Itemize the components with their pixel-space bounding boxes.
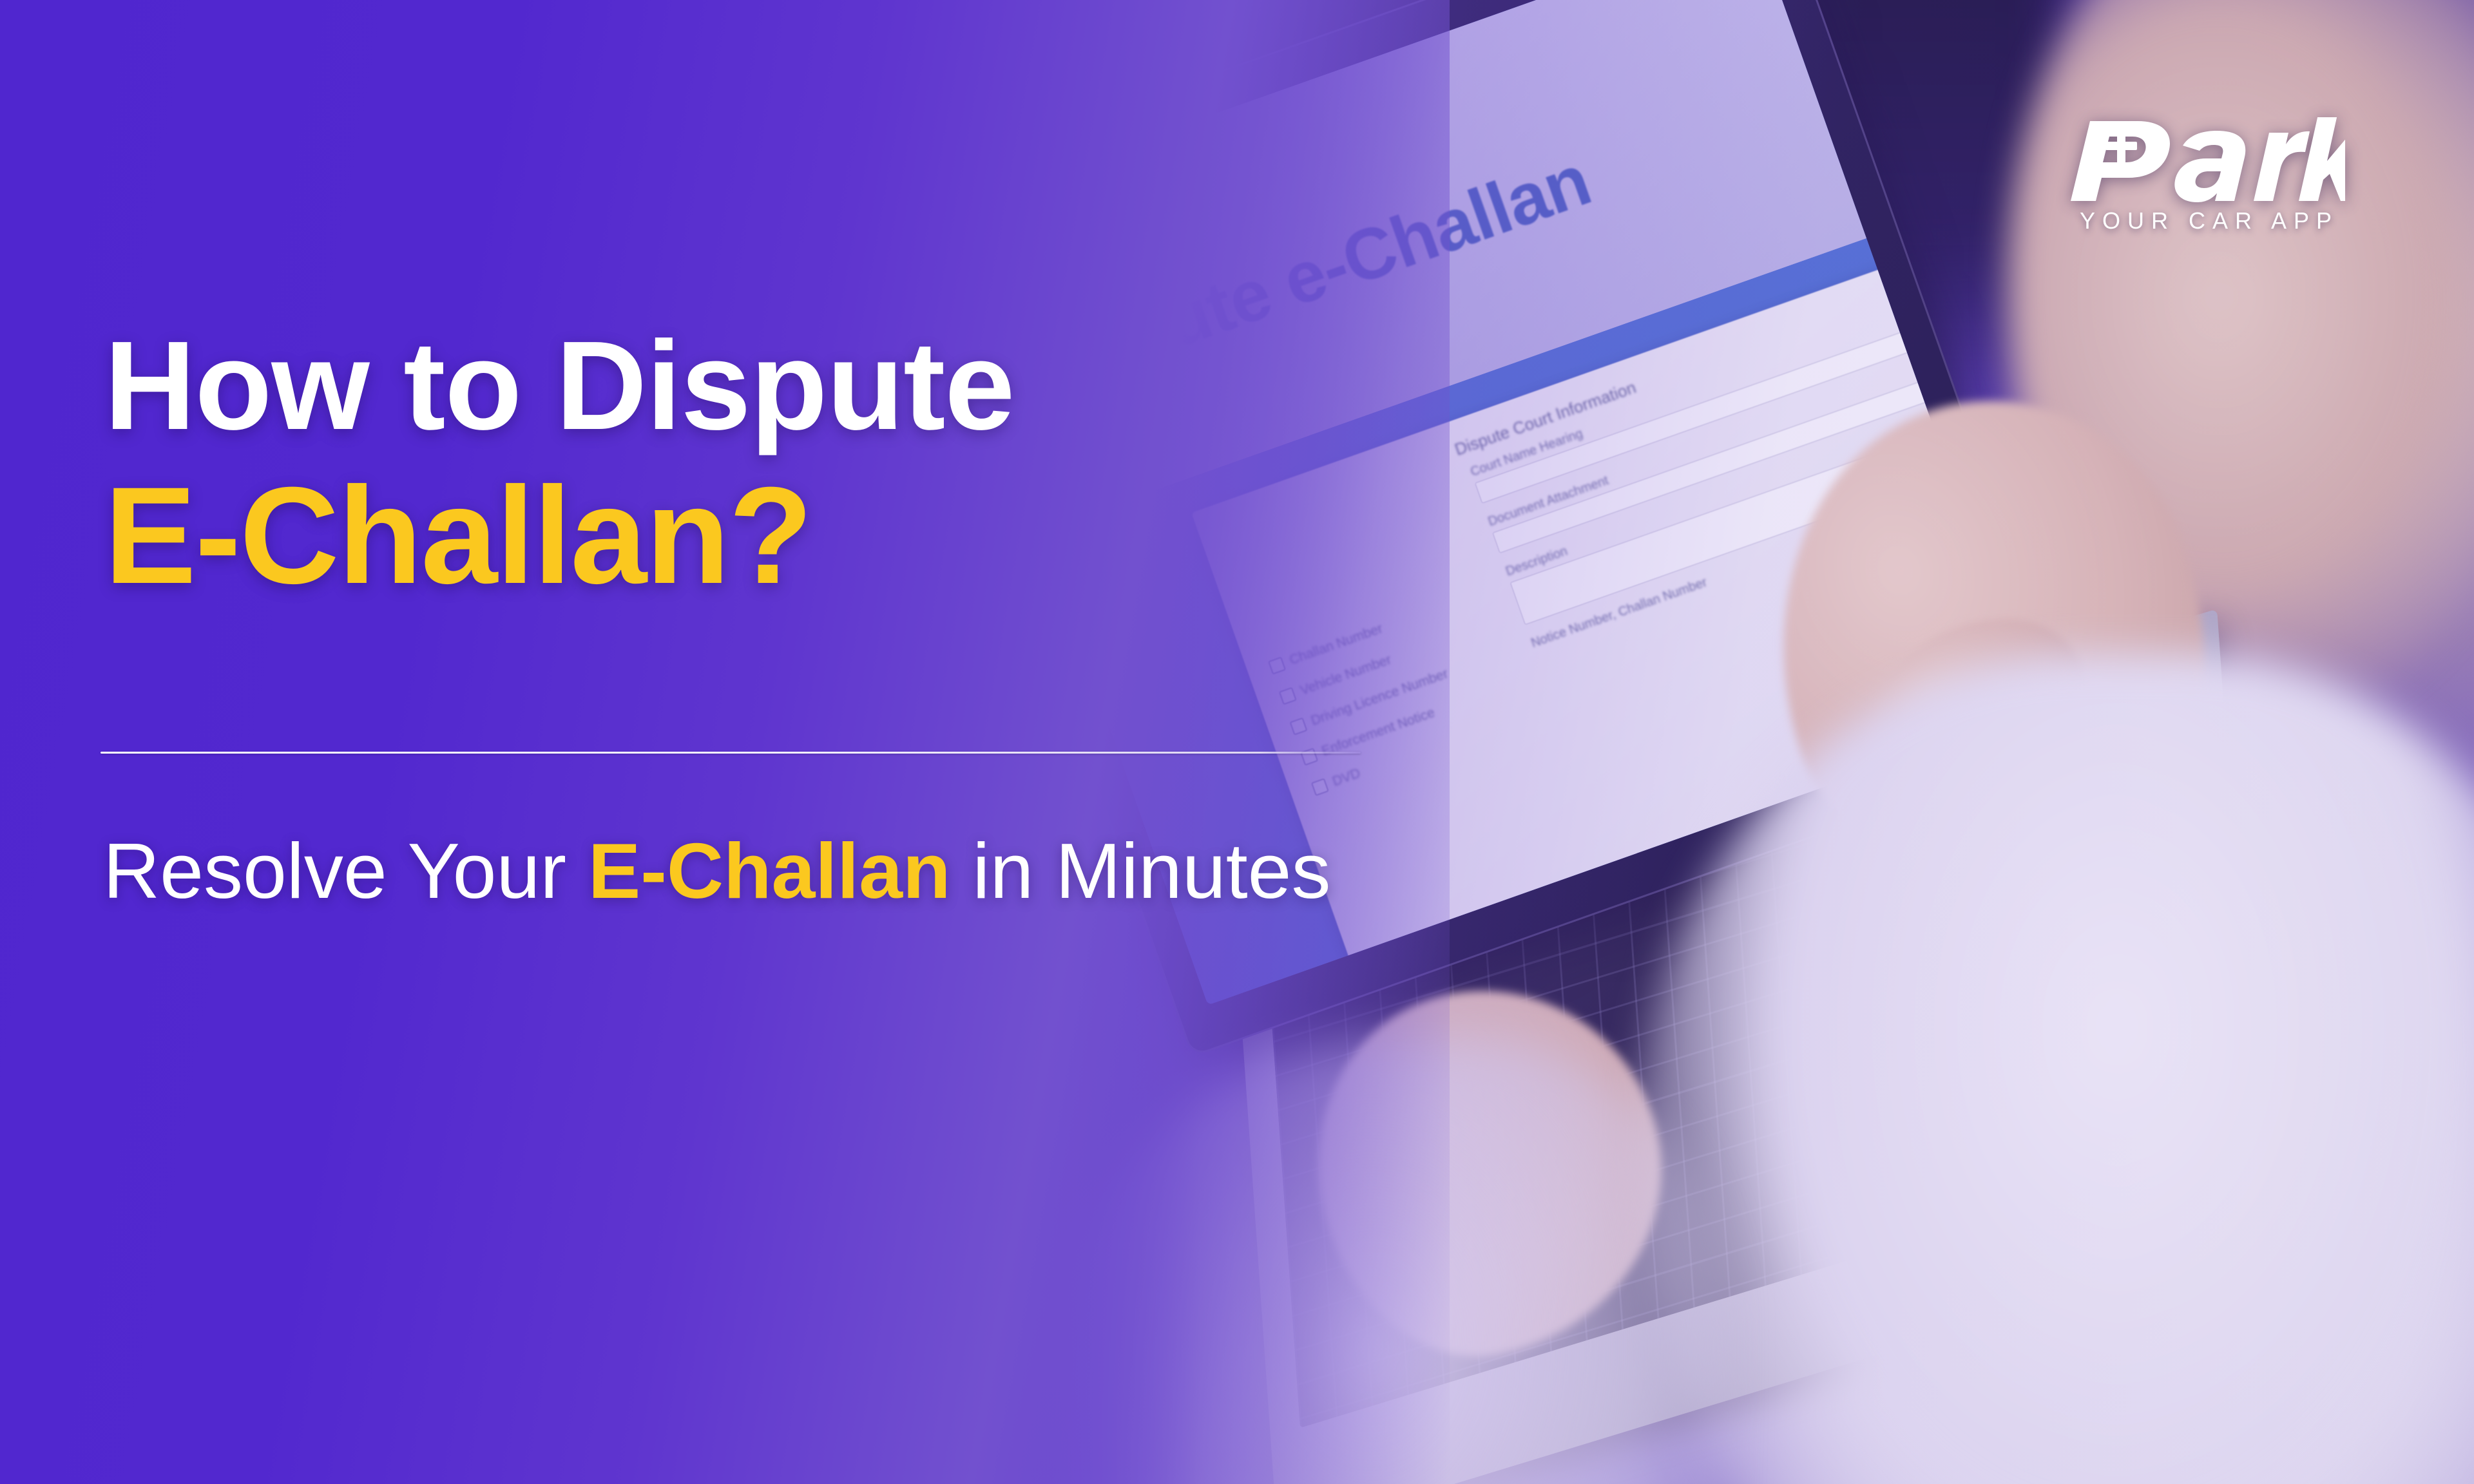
headline-line-1: How to Dispute — [104, 322, 1457, 450]
subtitle: Resolve Your E-Challan in Minutes — [103, 826, 1330, 916]
headline-line-2: E-Challan? — [104, 466, 1457, 605]
gradient-panel — [0, 0, 1450, 1484]
hero-banner: Dispute e-Challan Dispute Court Informat… — [0, 0, 2474, 1484]
subtitle-text-before: Resolve Your — [103, 827, 588, 915]
logo-tagline: YOUR CAR APP — [2080, 207, 2339, 234]
headline-block: How to Dispute E-Challan? — [104, 322, 1457, 605]
divider-rule — [101, 752, 1361, 754]
subtitle-text-after: in Minutes — [951, 827, 1331, 915]
subtitle-highlight: E-Challan — [588, 827, 951, 915]
